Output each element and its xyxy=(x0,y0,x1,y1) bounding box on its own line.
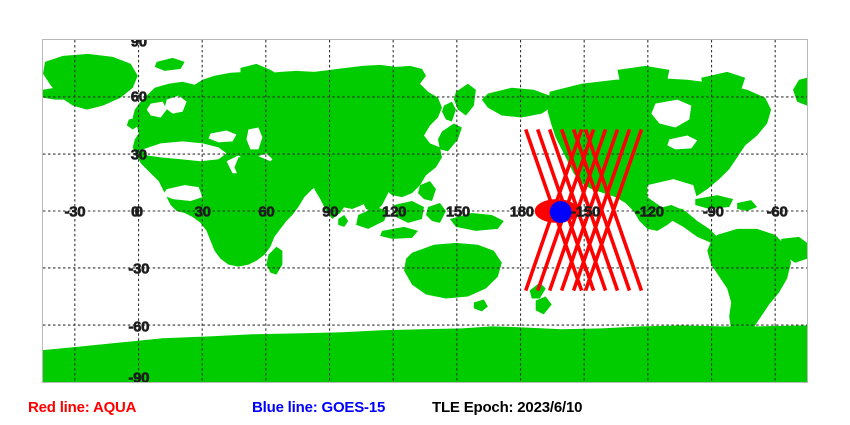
lat-tick--60: -60 xyxy=(128,319,149,334)
lon-tick-150: 150 xyxy=(446,205,470,220)
lon-tick--120: -120 xyxy=(635,205,664,220)
legend-tle-epoch: TLE Epoch: 2023/6/10 xyxy=(432,400,582,415)
goes15-position-marker xyxy=(550,201,572,223)
lon-tick-60: 60 xyxy=(258,205,274,220)
world-map-canvas xyxy=(43,40,807,382)
lon-tick-30: 30 xyxy=(195,205,211,220)
lon-tick--60: -60 xyxy=(767,205,788,220)
world-map-panel: 90 60 30 0 -30 -60 -90 -30 30 60 90 120 … xyxy=(42,39,808,383)
lat-tick-60: 60 xyxy=(131,90,147,105)
legend-red-line-aqua: Red line: AQUA xyxy=(28,400,136,415)
lat-tick-90: 90 xyxy=(131,39,147,50)
legend-blue-line-goes15: Blue line: GOES-15 xyxy=(252,400,385,415)
lat-tick-30: 30 xyxy=(131,147,147,162)
lon-tick-180: 180 xyxy=(510,205,534,220)
lon-tick-120: 120 xyxy=(382,205,406,220)
lon-tick-0: 0 xyxy=(131,205,139,220)
lon-tick--30: -30 xyxy=(65,205,86,220)
lat-tick--90: -90 xyxy=(128,371,149,384)
lon-tick--90: -90 xyxy=(703,205,724,220)
lon-tick-90: 90 xyxy=(322,205,338,220)
lat-tick--30: -30 xyxy=(128,262,149,277)
legend-bar: Red line: AQUA Blue line: GOES-15 TLE Ep… xyxy=(0,394,850,425)
satellite-ground-track-view: 90 60 30 0 -30 -60 -90 -30 30 60 90 120 … xyxy=(0,0,850,425)
lon-tick--150: -150 xyxy=(571,205,600,220)
